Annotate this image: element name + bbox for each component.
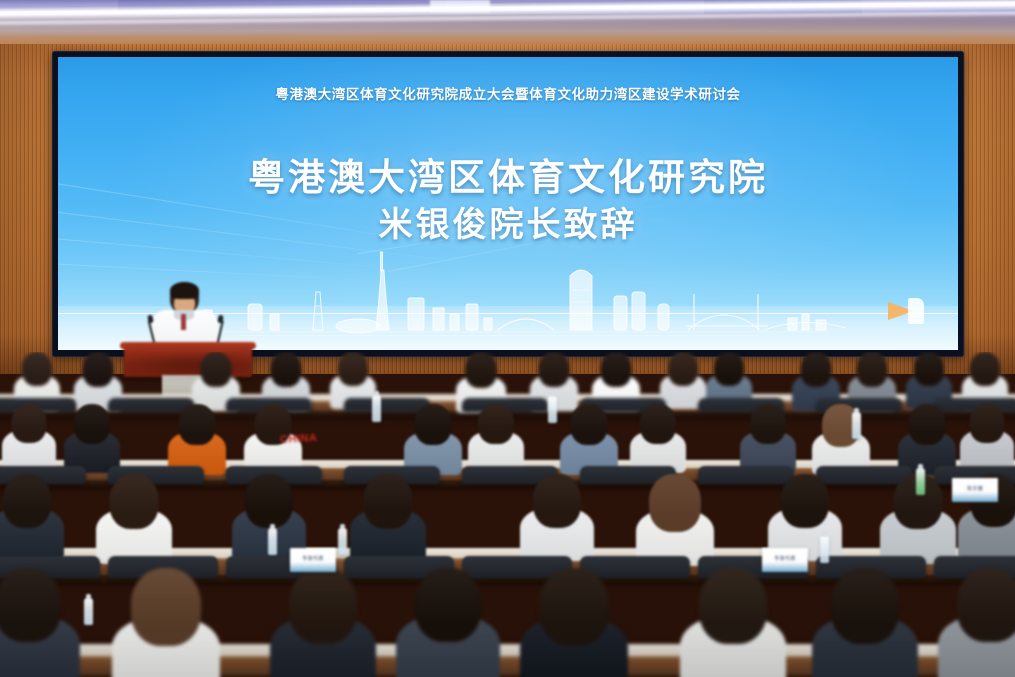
name-placard: 专家代表: [290, 548, 336, 572]
name-placard-text: 专家代表: [302, 555, 324, 562]
conference-hall-photo: 粤港澳大湾区体育文化研究院成立大会暨体育文化助力湾区建设学术研讨会 粤港澳大湾区…: [0, 0, 1015, 677]
audience-area: [0, 352, 1015, 677]
person-head: [478, 404, 514, 444]
water-bottle: [372, 395, 381, 422]
person-head: [533, 474, 581, 528]
person-head: [640, 404, 676, 444]
audience-person: [2, 404, 56, 470]
audience-person: [520, 568, 628, 677]
audience-person: [960, 404, 1014, 470]
person-head: [245, 474, 293, 528]
audience-person: [680, 568, 786, 677]
bottle-cap: [86, 594, 91, 599]
water-bottle: [820, 536, 829, 563]
audience-person: [812, 568, 918, 677]
name-placard-text: 张文健: [967, 485, 983, 492]
person-head: [110, 474, 159, 529]
audience-person: [112, 568, 220, 677]
water-bottle: [548, 396, 557, 423]
bottle-cap: [822, 532, 827, 537]
person-head: [83, 352, 114, 387]
person-head: [781, 474, 829, 528]
audience-person: [168, 404, 226, 474]
person-head: [364, 474, 413, 529]
person-head: [970, 352, 1000, 386]
speaker-hair: [170, 282, 199, 299]
person-head: [179, 404, 216, 445]
water-bottle: [268, 528, 277, 555]
name-placard: 张文健: [952, 478, 998, 502]
audience-person: [520, 474, 594, 560]
audience-person: [404, 404, 462, 474]
person-head: [914, 352, 944, 386]
audience-person: [938, 568, 1015, 677]
audience-person: [636, 474, 714, 564]
person-head: [465, 352, 497, 388]
person-head: [857, 352, 888, 387]
name-placard: 专家代表: [762, 548, 808, 572]
person-head: [539, 568, 609, 646]
audience-row: [0, 568, 1015, 677]
water-bottle: [916, 468, 925, 495]
audience-person: [350, 474, 426, 562]
audience-person: [396, 568, 500, 677]
audience-person: [812, 404, 870, 474]
screen-header-text: 粤港澳大湾区体育文化研究院成立大会暨体育文化助力湾区建设学术研讨会: [58, 83, 958, 103]
bottle-cap: [340, 524, 345, 529]
audience-person: [96, 474, 172, 562]
person-head: [539, 352, 570, 387]
audience-person: [468, 404, 524, 472]
audience-person: [740, 404, 796, 472]
person-head: [601, 352, 632, 387]
person-head: [699, 568, 767, 644]
person-head: [750, 404, 786, 444]
sail-boat-icon: [908, 298, 924, 324]
screen-title-line1: 粤港澳大湾区体育文化研究院: [58, 154, 958, 203]
person-head: [970, 404, 1005, 443]
audience-person: [630, 404, 686, 472]
audience-person: [270, 568, 376, 677]
water-bottle: [84, 598, 93, 625]
person-head: [0, 568, 61, 642]
audience-person: [0, 474, 64, 560]
speaker-tie: [181, 314, 186, 330]
person-head: [3, 474, 51, 528]
person-head: [201, 352, 232, 387]
person-head: [714, 352, 744, 386]
audience-person: [560, 404, 618, 474]
person-head: [957, 568, 1015, 642]
person-head: [831, 568, 899, 644]
person-head: [909, 404, 946, 445]
person-head: [74, 404, 110, 444]
person-head: [415, 404, 452, 445]
audience-person: [898, 404, 956, 474]
person-head: [22, 352, 52, 386]
person-head: [12, 404, 47, 443]
audience-person: [0, 568, 80, 677]
bottle-cap: [550, 392, 555, 397]
water-bottle: [852, 412, 861, 439]
person-head: [338, 352, 368, 386]
bottle-cap: [270, 524, 275, 529]
person-head: [289, 568, 357, 644]
person-head: [801, 352, 832, 387]
person-head: [649, 474, 701, 532]
ceiling: [0, 0, 1015, 50]
bottle-cap: [854, 408, 859, 413]
person-head: [271, 352, 302, 387]
china-jersey-label: CHINA: [268, 430, 330, 448]
name-placard-text: 专家代表: [774, 555, 796, 562]
audience-person: [64, 404, 120, 472]
microphone-head-icon: [147, 315, 154, 324]
bottle-cap: [374, 391, 379, 396]
bottle-cap: [918, 464, 923, 469]
person-head: [571, 404, 608, 445]
person-head: [131, 568, 201, 646]
person-head: [668, 352, 698, 386]
water-bottle: [338, 528, 347, 555]
person-head: [415, 568, 481, 642]
china-jersey-text: CHINA: [280, 432, 318, 446]
